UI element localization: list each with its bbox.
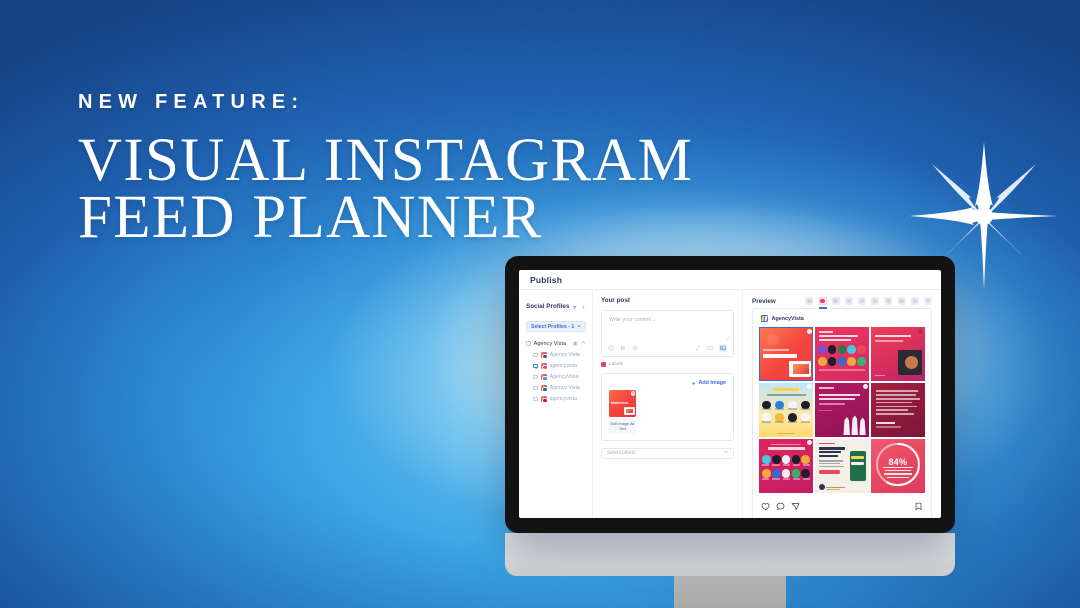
post-content-editor[interactable]: Write your content ...: [601, 310, 734, 357]
instagram-preview-card: AgencyVista: [752, 308, 932, 518]
carousel-badge-icon: [863, 384, 868, 389]
feed-tile[interactable]: [871, 383, 925, 437]
likes-count: 78 likes: [759, 516, 925, 518]
google-business-tab[interactable]: [871, 297, 879, 305]
network-tab-bar: [805, 297, 932, 305]
link-icon[interactable]: [695, 345, 701, 351]
feed-tile[interactable]: [815, 327, 869, 381]
list-item[interactable]: agencyvista: [533, 363, 586, 369]
app-header: Publish: [519, 270, 941, 290]
headline-block: NEW FEATURE: VISUAL INSTAGRAM FEED PLANN…: [78, 92, 698, 246]
linkedin-tab[interactable]: [832, 297, 840, 305]
youtube-tab[interactable]: [858, 297, 866, 305]
carousel-badge-icon: [807, 440, 812, 445]
twitter-tab[interactable]: [845, 297, 853, 305]
plus-icon: [691, 381, 696, 386]
preview-account-name: AgencyVista: [772, 316, 804, 322]
social-profiles-header-icons: [572, 297, 586, 315]
filter-icon[interactable]: [572, 297, 577, 315]
page-title: VISUAL INSTAGRAM FEED PLANNER: [78, 133, 698, 246]
video-badge-icon: [918, 329, 923, 334]
feed-tile[interactable]: [759, 327, 813, 381]
app-title: Publish: [530, 275, 562, 285]
imac-monitor: Publish Social Profiles: [505, 256, 955, 608]
carousel-badge-icon: [807, 384, 812, 389]
sticker-icon[interactable]: [632, 345, 638, 351]
profile-name: agencyvista: [550, 396, 577, 402]
group-name: Agency Vista: [534, 341, 570, 347]
feed-tile[interactable]: [871, 327, 925, 381]
feed-tile[interactable]: [759, 439, 813, 493]
page-title-line-2: FEED PLANNER: [78, 190, 698, 247]
profile-checkbox[interactable]: [533, 386, 538, 391]
group-checkbox[interactable]: [526, 341, 531, 346]
your-post-panel: Your post Write your content ...: [593, 290, 743, 518]
media-attachment-area: Add Image × Marketers Edit Image Alt Tex…: [601, 373, 734, 441]
hashtag-icon[interactable]: [620, 345, 626, 351]
edit-alt-text-button[interactable]: Edit Image Alt Text: [609, 419, 636, 434]
label-chip-row[interactable]: Labels: [601, 362, 734, 367]
gif-icon[interactable]: [707, 345, 713, 351]
agency-vista-logo: [761, 315, 768, 322]
vimeo-tab[interactable]: [898, 297, 906, 305]
instagram-action-bar: [759, 493, 925, 516]
share-icon[interactable]: [791, 498, 800, 516]
pinterest-tab[interactable]: [884, 297, 892, 305]
profile-checkbox[interactable]: [533, 353, 538, 358]
group-count-badge: 5: [573, 341, 578, 346]
carousel-badge-icon: [807, 329, 812, 334]
monitor-bezel: Publish Social Profiles: [505, 256, 955, 533]
close-icon[interactable]: ×: [631, 391, 636, 396]
tiktok-tab[interactable]: [911, 297, 919, 305]
monitor-stand-neck: [674, 576, 786, 608]
profile-name: Agency Vista: [550, 385, 580, 391]
linkedin-icon: [541, 385, 547, 391]
facebook-tab[interactable]: [805, 297, 813, 305]
chevron-left-icon[interactable]: [581, 297, 586, 315]
chevron-up-icon[interactable]: [581, 340, 586, 347]
pinterest-icon: [541, 396, 547, 402]
preview-account-row: AgencyVista: [759, 315, 925, 322]
add-image-label: Add Image: [698, 380, 726, 386]
preview-panel: Preview: [743, 290, 941, 518]
instagram-tab[interactable]: [819, 297, 827, 305]
caret-down-icon: [577, 324, 581, 330]
like-heart-icon[interactable]: [761, 498, 770, 516]
select-labels-dropdown[interactable]: Select labels: [601, 448, 734, 459]
app-body: Social Profiles Select: [519, 290, 941, 518]
editor-toolbar-right: [695, 344, 727, 352]
publish-app: Publish Social Profiles: [519, 270, 941, 518]
image-icon[interactable]: [719, 344, 727, 352]
instagram-feed-grid: 84%: [759, 327, 925, 493]
preview-header: Preview: [752, 297, 932, 305]
comment-icon[interactable]: [776, 498, 785, 516]
laptop-graphic: [624, 407, 635, 415]
select-profiles-label: Select Profiles - 1: [531, 324, 574, 330]
profile-list: Agency Vista agencyvista AgencyVista: [526, 352, 586, 402]
list-item[interactable]: agencyvista: [533, 396, 586, 402]
bookmark-icon[interactable]: [914, 498, 923, 516]
select-profiles-button[interactable]: Select Profiles - 1: [526, 321, 586, 332]
profile-checkbox[interactable]: [533, 375, 538, 380]
social-profiles-header: Social Profiles: [526, 297, 586, 315]
attached-image[interactable]: × Marketers Edit Image Alt Text: [609, 390, 636, 434]
thumbnail-caption: Marketers: [611, 401, 628, 405]
profile-name: agencyvista: [550, 363, 577, 369]
social-profiles-heading: Social Profiles: [526, 303, 569, 310]
profile-group-row[interactable]: Agency Vista 5: [526, 340, 586, 347]
post-editor-toolbar: [602, 344, 733, 352]
caret-down-icon: [724, 450, 728, 456]
label-chip-text: Labels: [609, 362, 623, 367]
resize-handle-icon[interactable]: [725, 336, 730, 343]
twitter-icon: [541, 374, 547, 380]
editor-toolbar-left: [608, 345, 638, 351]
facebook-icon: [541, 352, 547, 358]
image-thumbnail[interactable]: × Marketers: [609, 390, 636, 417]
preview-heading: Preview: [752, 298, 776, 305]
snapchat-tab[interactable]: [924, 297, 932, 305]
stat-value: 84%: [871, 457, 925, 467]
profile-name: AgencyVista: [550, 374, 579, 380]
list-item[interactable]: Agency Vista: [533, 352, 586, 358]
social-profiles-panel: Social Profiles Select: [519, 290, 593, 518]
monitor-display: Publish Social Profiles: [519, 270, 941, 518]
instagram-icon: [541, 363, 547, 369]
label-color-chip: [601, 362, 606, 367]
add-image-button[interactable]: Add Image: [691, 380, 726, 386]
select-labels-placeholder: Select labels: [607, 450, 635, 456]
profile-checkbox[interactable]: [533, 364, 538, 369]
instagram-actions-left: [761, 498, 800, 516]
monitor-chin: [505, 533, 955, 576]
feed-tile[interactable]: [759, 383, 813, 437]
emoji-icon[interactable]: [608, 345, 614, 351]
list-item[interactable]: Agency Vista: [533, 385, 586, 391]
profile-name: Agency Vista: [550, 352, 580, 358]
feed-tile[interactable]: 84%: [871, 439, 925, 493]
post-editor-placeholder: Write your content ...: [609, 317, 726, 323]
list-item[interactable]: AgencyVista: [533, 374, 586, 380]
profile-checkbox[interactable]: [533, 397, 538, 402]
media-actions: Add Image: [609, 380, 726, 386]
feed-tile[interactable]: [815, 383, 869, 437]
feed-tile[interactable]: [815, 439, 869, 493]
eyebrow-label: NEW FEATURE:: [78, 92, 698, 112]
your-post-heading: Your post: [601, 297, 734, 304]
